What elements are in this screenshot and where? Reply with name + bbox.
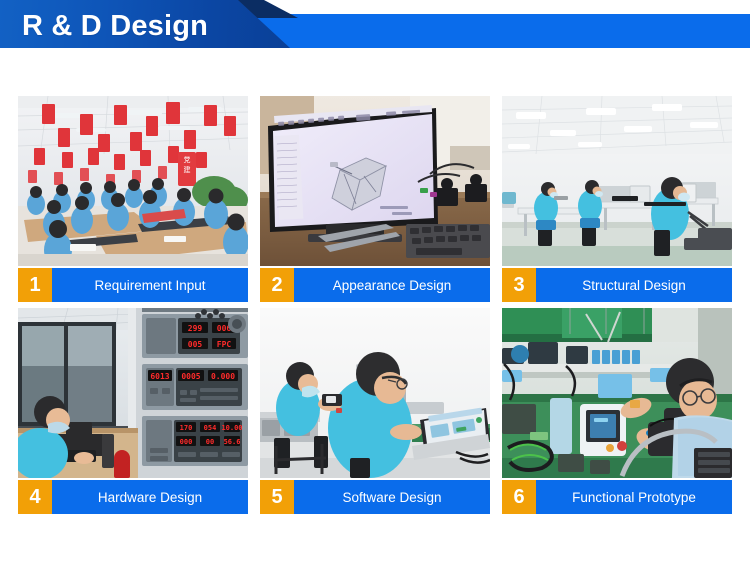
monitor-icon [260, 96, 490, 266]
process-card[interactable]: 5 Software Design [260, 308, 490, 514]
card-number-badge: 5 [260, 480, 294, 514]
card-caption: 5 Software Design [260, 480, 490, 514]
process-card[interactable]: 2 Appearance Design [260, 96, 490, 302]
svg-text:005: 005 [188, 340, 203, 349]
banner-light-bar [250, 14, 750, 48]
card-caption: 6 Functional Prototype [502, 480, 732, 514]
card-label: Structural Design [536, 268, 732, 302]
svg-text:299: 299 [188, 324, 203, 333]
card-photo-meeting: 党 建 [18, 96, 248, 266]
process-card-grid: 党 建 [18, 96, 732, 514]
svg-text:00: 00 [206, 438, 214, 446]
card-caption: 1 Requirement Input [18, 268, 248, 302]
card-caption: 3 Structural Design [502, 268, 732, 302]
card-label: Requirement Input [52, 268, 248, 302]
process-card[interactable]: 党 建 [18, 96, 248, 302]
svg-text:6013: 6013 [150, 372, 169, 381]
svg-text:170: 170 [180, 424, 193, 432]
card-label: Hardware Design [52, 480, 248, 514]
rd-design-infographic: R & D Design [0, 0, 750, 568]
card-number-badge: 4 [18, 480, 52, 514]
card-number-badge: 3 [502, 268, 536, 302]
card-number-badge: 6 [502, 480, 536, 514]
card-photo-lab [502, 96, 732, 266]
card-photo-instruments: 299 006 005 FPC [18, 308, 248, 478]
header-banner: R & D Design [0, 0, 750, 62]
card-number-badge: 2 [260, 268, 294, 302]
instrument-rack-icon: 299 006 005 FPC [18, 308, 248, 478]
card-caption: 4 Hardware Design [18, 480, 248, 514]
card-photo-prototype [502, 308, 732, 478]
svg-text:000: 000 [180, 438, 193, 446]
svg-text:0.000: 0.000 [211, 372, 235, 381]
process-card[interactable]: 3 Structural Design [502, 96, 732, 302]
card-photo-software [260, 308, 490, 478]
svg-text:建: 建 [184, 165, 191, 174]
process-card[interactable]: 6 Functional Prototype [502, 308, 732, 514]
card-photo-cad [260, 96, 490, 266]
svg-text:党: 党 [184, 155, 191, 164]
svg-text:FPC: FPC [217, 340, 232, 349]
lab-icon [502, 96, 732, 266]
card-caption: 2 Appearance Design [260, 268, 490, 302]
svg-text:56.6: 56.6 [224, 438, 241, 446]
card-label: Appearance Design [294, 268, 490, 302]
laptop-icon [260, 308, 490, 478]
meeting-icon: 党 建 [18, 96, 248, 266]
svg-text:10.00: 10.00 [221, 424, 242, 432]
svg-text:0005: 0005 [181, 372, 200, 381]
card-label: Functional Prototype [536, 480, 732, 514]
card-label: Software Design [294, 480, 490, 514]
prototype-icon [502, 308, 732, 478]
page-title: R & D Design [22, 4, 208, 48]
svg-text:054: 054 [204, 424, 217, 432]
card-number-badge: 1 [18, 268, 52, 302]
process-card[interactable]: 299 006 005 FPC [18, 308, 248, 514]
